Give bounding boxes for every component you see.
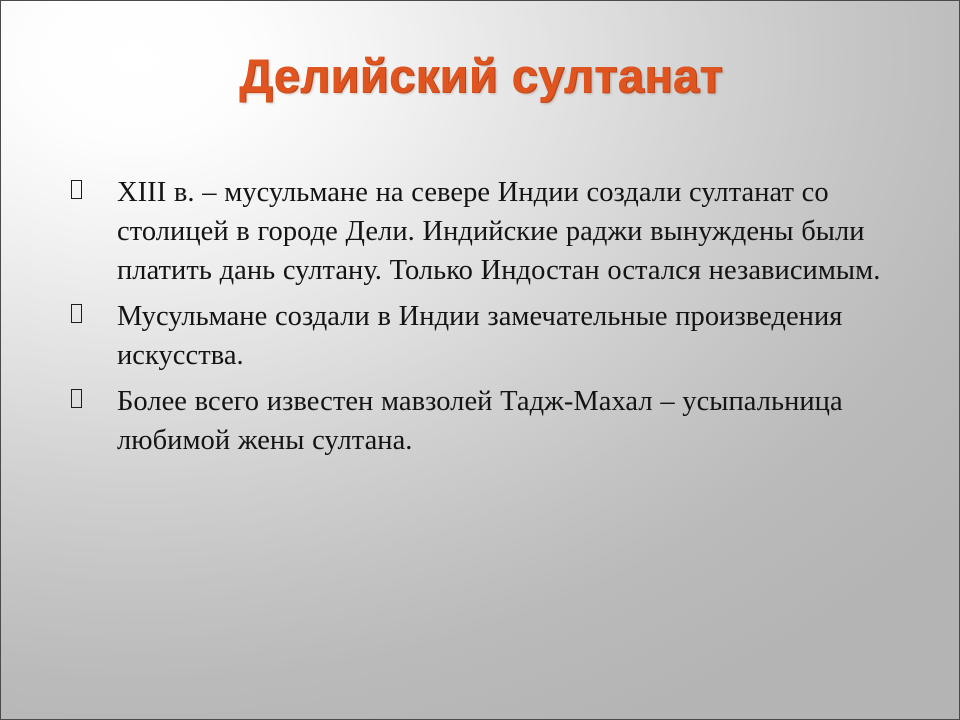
list-item: Мусульмане создали в Индии замечательные… [63, 297, 903, 375]
bullet-list: XIII в. – мусульмане на севере Индии соз… [63, 173, 903, 467]
box-bullet-icon [71, 304, 82, 323]
title-block: Делийский султанат [1, 49, 960, 103]
list-item-text: XIII в. – мусульмане на севере Индии соз… [117, 173, 903, 290]
list-item: XIII в. – мусульмане на севере Индии соз… [63, 173, 903, 290]
list-item-text: Мусульмане создали в Индии замечательные… [117, 297, 903, 375]
list-item-text: Более всего известен мавзолей Тадж-Махал… [117, 382, 903, 460]
list-item: Более всего известен мавзолей Тадж-Махал… [63, 382, 903, 460]
box-bullet-icon [71, 389, 82, 408]
page-title: Делийский султанат [239, 49, 723, 103]
presentation-slide: Делийский султанат XIII в. – мусульмане … [0, 0, 960, 720]
box-bullet-icon [71, 180, 82, 199]
